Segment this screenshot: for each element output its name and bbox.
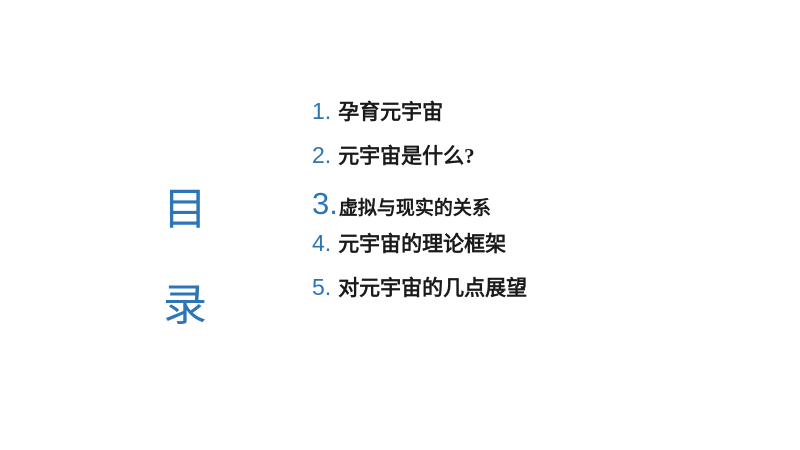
page-title-char-1: 目 <box>145 162 225 258</box>
toc-entry-label: 元宇宙的理论框架 <box>338 234 506 255</box>
toc-entry-label: 对元宇宙的几点展望 <box>338 278 527 299</box>
toc-entry-1[interactable]: 1. 孕育元宇宙 <box>312 100 642 144</box>
toc-entry-label: 虚拟与现实的关系 <box>339 199 491 218</box>
toc-entry-number: 2. <box>312 144 331 167</box>
toc-entry-3[interactable]: 3. 虚拟与现实的关系 <box>312 188 642 232</box>
toc-entry-5[interactable]: 5. 对元宇宙的几点展望 <box>312 276 642 320</box>
presentation-slide: 目 录 1. 孕育元宇宙 2. 元宇宙是什么? 3. 虚拟与现实的关系 4. 元… <box>0 0 800 450</box>
toc-entry-label: 元宇宙是什么? <box>338 146 475 167</box>
table-of-contents-list: 1. 孕育元宇宙 2. 元宇宙是什么? 3. 虚拟与现实的关系 4. 元宇宙的理… <box>312 100 642 320</box>
toc-entry-2[interactable]: 2. 元宇宙是什么? <box>312 144 642 188</box>
toc-entry-number: 3. <box>312 188 338 219</box>
page-title-char-2: 录 <box>145 258 225 354</box>
toc-entry-number: 4. <box>312 232 331 255</box>
toc-entry-number: 1. <box>312 100 331 123</box>
toc-entry-label: 孕育元宇宙 <box>338 102 443 123</box>
toc-entry-number: 5. <box>312 276 331 299</box>
toc-entry-4[interactable]: 4. 元宇宙的理论框架 <box>312 232 642 276</box>
page-title: 目 录 <box>145 162 225 354</box>
